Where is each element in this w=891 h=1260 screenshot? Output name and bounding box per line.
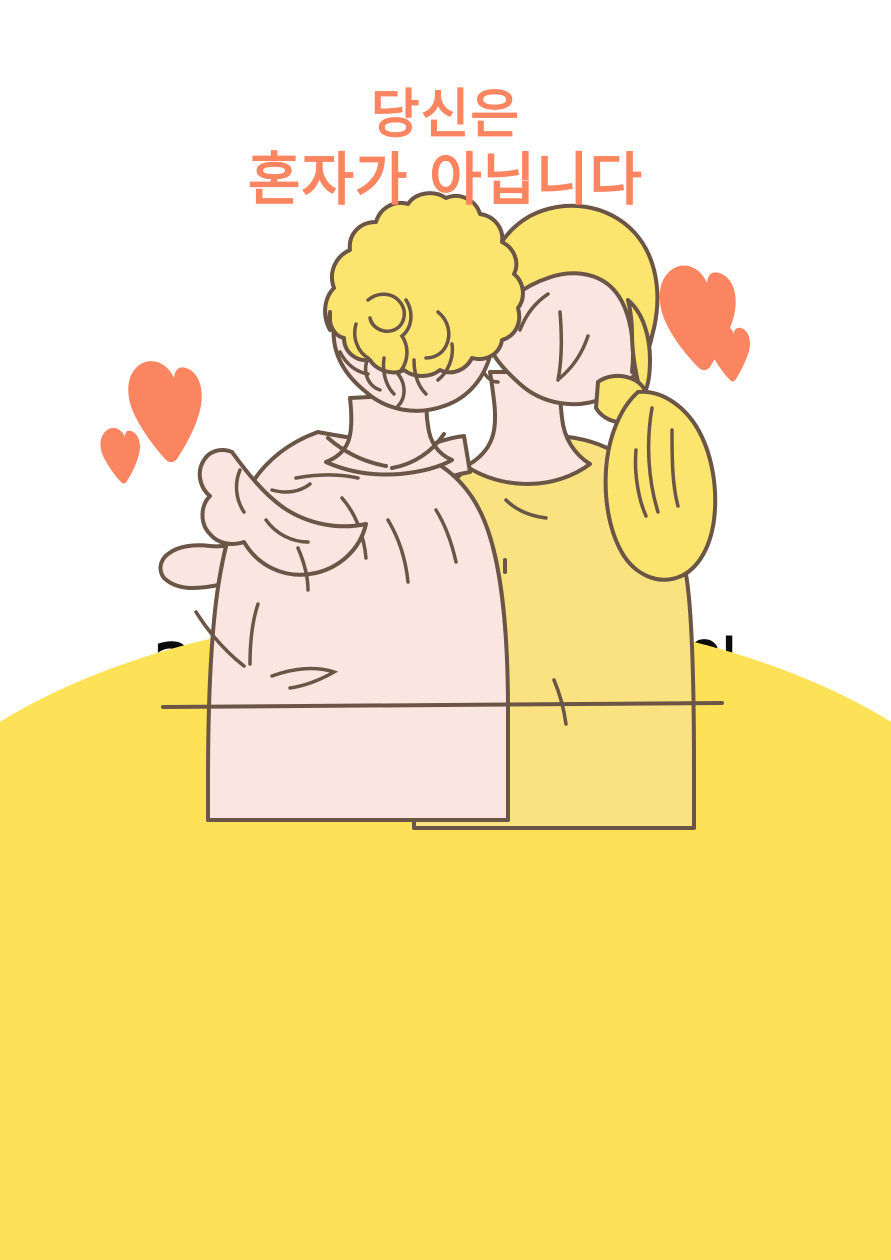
heart-small-left [100,428,140,484]
poster-root: 당신은 혼자가 아닙니다 [0,0,891,1260]
heart-large-left [128,361,202,462]
headline-line-1: 당신은 [0,84,891,147]
headline-line-2: 혼자가 아닙니다 [0,147,891,214]
heart-large-right [660,265,736,370]
yellow-background-shape [0,612,891,1260]
figure-right-arm [161,436,470,588]
heart-small-right [708,324,750,381]
headline: 당신은 혼자가 아닙니다 [0,84,891,214]
